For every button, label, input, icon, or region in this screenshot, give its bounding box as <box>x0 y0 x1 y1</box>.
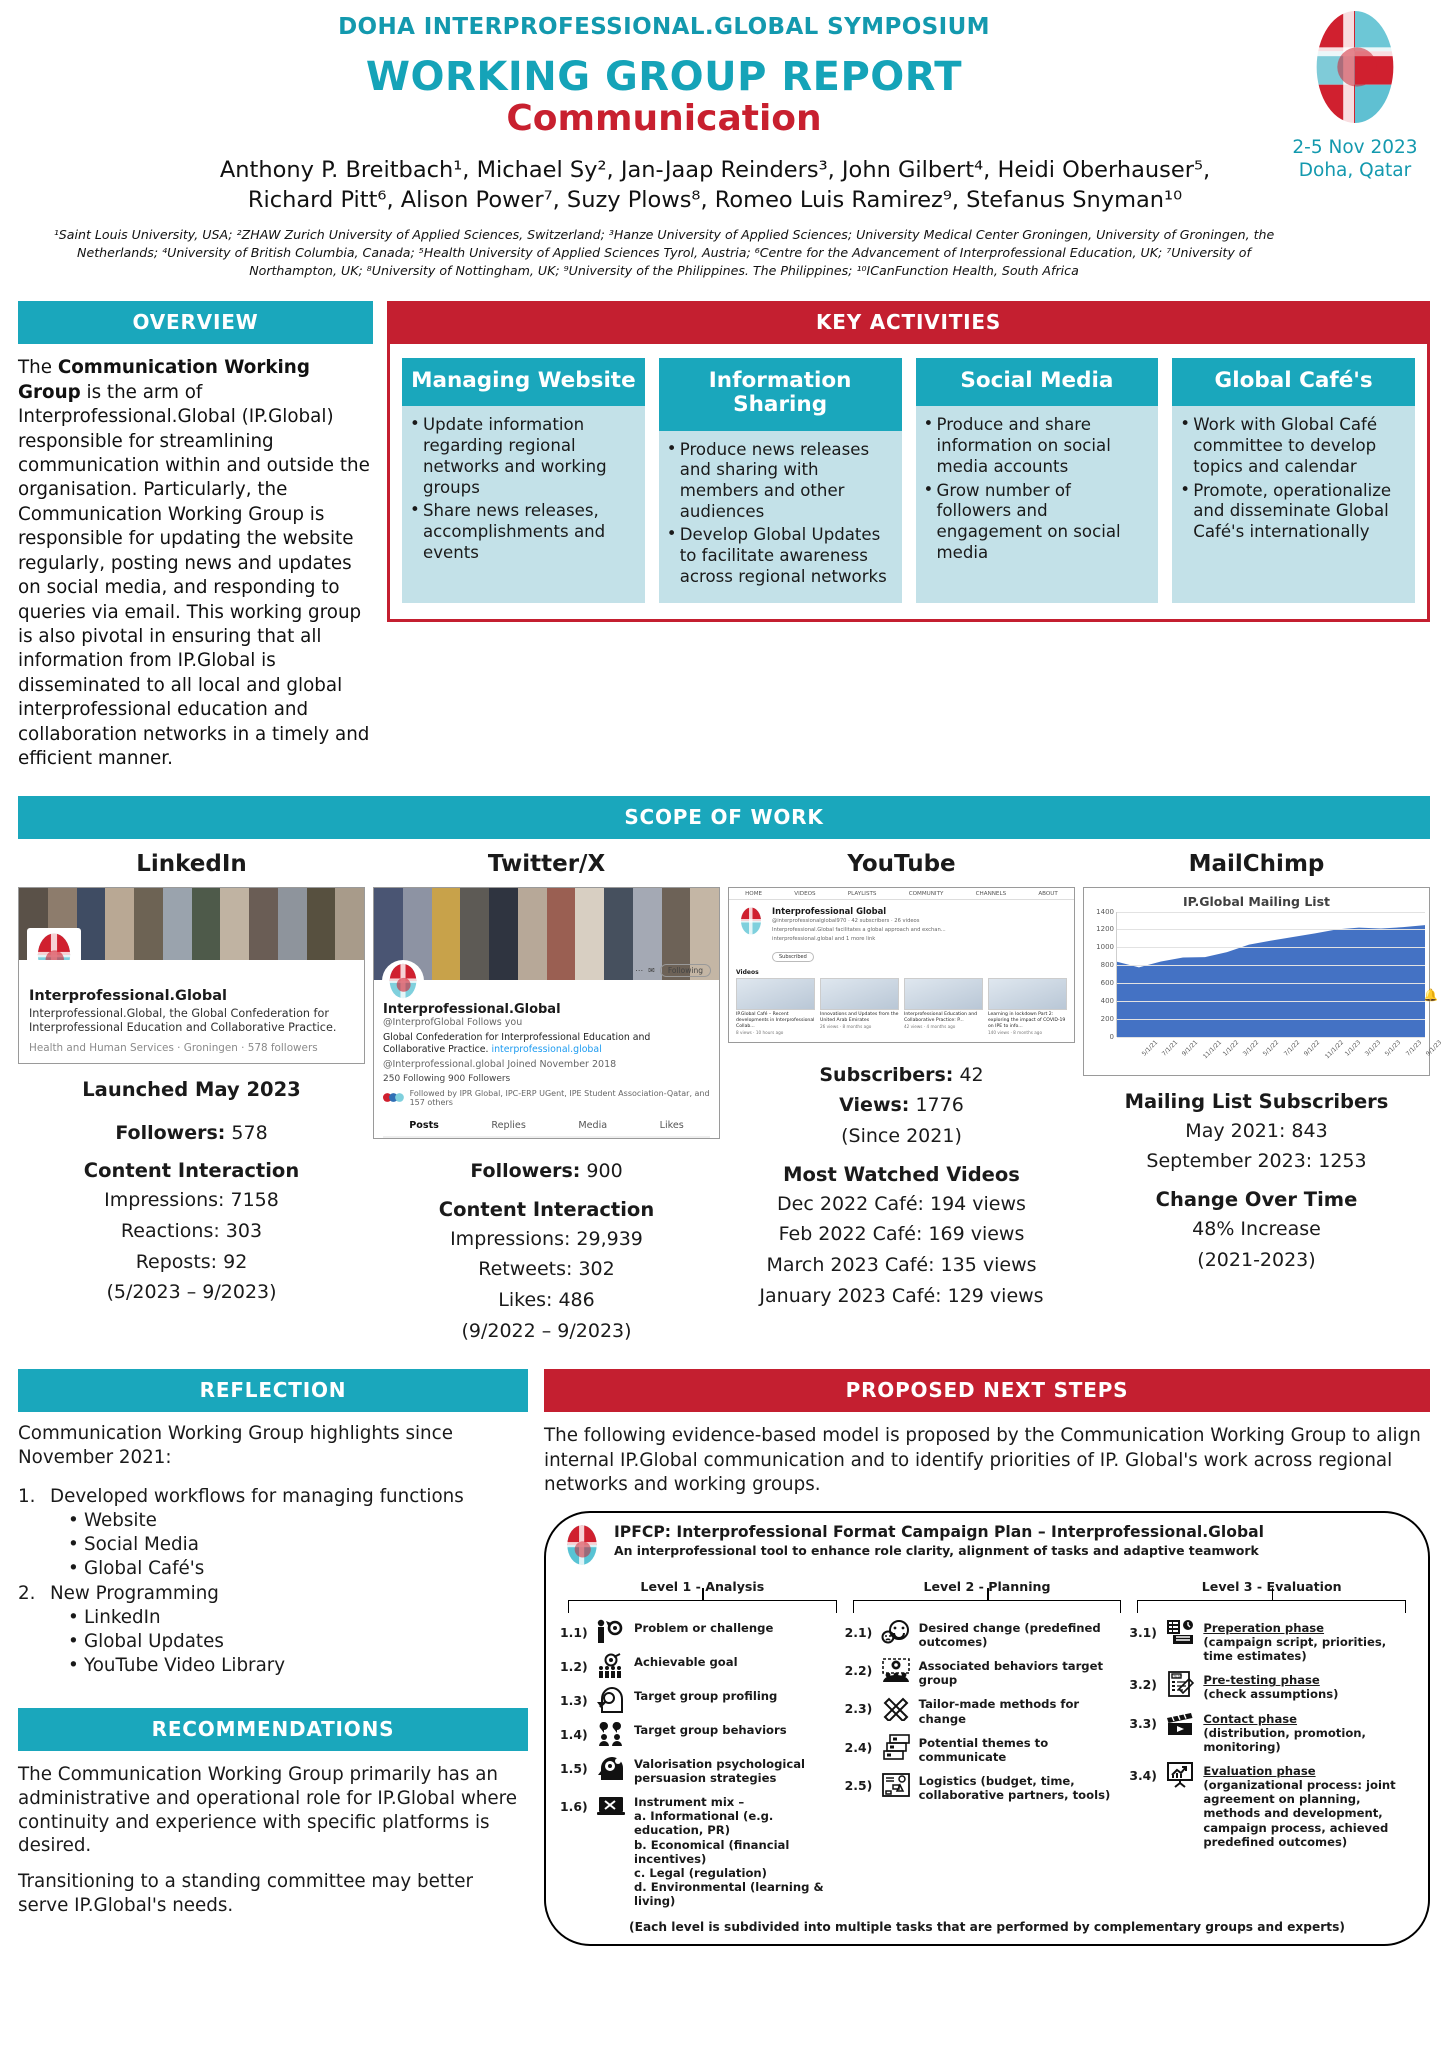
item-detail: (distribution, promotion, monitoring) <box>1203 1726 1366 1754</box>
test-sheet-icon: TEST <box>1163 1671 1197 1697</box>
reflection-list: 1. Developed workflows for managing func… <box>18 1485 528 1678</box>
ipfcp-diagram: IPFCP: Interprofessional Format Campaign… <box>544 1511 1430 1946</box>
item-heading: Preperation phase <box>1203 1621 1324 1635</box>
youtube-most-watched-item: Dec 2022 Café: 194 views <box>728 1192 1075 1217</box>
head-gears-icon <box>594 1755 628 1781</box>
chart-gridline <box>1117 1001 1425 1002</box>
linkedin-stat: Reposts: 92 <box>18 1250 365 1275</box>
ipfcp-item: 1.4) Target group behaviors <box>560 1721 845 1747</box>
chart-x-tick: 3/1/23 <box>1364 1039 1383 1058</box>
reflection-subitem: •Global Café's <box>68 1557 528 1581</box>
chart-y-tick: 200 <box>1101 1015 1114 1023</box>
reflection-subitem-text: Social Media <box>84 1533 199 1557</box>
next-steps-header: PROPOSED NEXT STEPS <box>544 1369 1430 1412</box>
poster-root: DOHA INTERPROFESSIONAL.GLOBAL SYMPOSIUM … <box>0 0 1448 2048</box>
tab-replies[interactable]: Replies <box>491 1120 525 1131</box>
activity-bullet: Grow number of followers and engagement … <box>924 481 1151 564</box>
item-number: 2.1) <box>845 1619 873 1640</box>
ipglobal-logo-icon <box>1296 8 1414 126</box>
item-number: 1.3) <box>560 1687 588 1708</box>
linkedin-profile-name: Interprofessional.Global <box>29 988 354 1004</box>
event-logo-block: 2-5 Nov 2023 Doha, Qatar <box>1290 8 1420 182</box>
item-number: 1.1) <box>560 1619 588 1640</box>
reflection-subitem: •LinkedIn <box>68 1606 528 1630</box>
chart-y-tick: 0 <box>1110 1033 1114 1041</box>
video-thumbnail[interactable] <box>736 978 815 1010</box>
item-number: 1.4) <box>560 1721 588 1742</box>
item-number: 3.1) <box>1129 1619 1157 1640</box>
group-gear-icon <box>879 1657 913 1683</box>
author-list: Anthony P. Breitbach¹, Michael Sy², Jan-… <box>18 155 1430 216</box>
level-items: 3.1) Preperation phase(campaign script, … <box>1129 1619 1414 1849</box>
reflection-item: 2. New Programming <box>18 1582 528 1606</box>
ipfcp-subtitle: An interprofessional tool to enhance rol… <box>614 1543 1264 1558</box>
chart-x-tick: 5/1/22 <box>1262 1039 1281 1058</box>
youtube-channel-header: Interprofessional Global @interprofessio… <box>729 900 1074 966</box>
item-heading: Evaluation phase <box>1203 1764 1315 1778</box>
mailchimp-change-period: (2021-2023) <box>1083 1248 1430 1273</box>
reflection-intro: Communication Working Group highlights s… <box>18 1422 528 1470</box>
activity-card: Global Café's Work with Global Café comm… <box>1172 358 1415 602</box>
activity-card-title: Information Sharing <box>659 358 902 430</box>
ipfcp-heading-row: IPFCP: Interprofessional Format Campaign… <box>560 1523 1414 1567</box>
linkedin-followers-label: Followers: <box>115 1122 225 1144</box>
twitter-action-buttons[interactable]: ⋯ ✉ Following <box>635 964 711 977</box>
mailchimp-change-title: Change Over Time <box>1083 1188 1430 1211</box>
chart-gridline <box>1117 947 1425 948</box>
level-items: 1.1) Problem or challenge 1.2) Achievabl… <box>560 1619 845 1908</box>
twitter-stat: Impressions: 29,939 <box>373 1227 720 1252</box>
youtube-videos-label: Videos <box>729 966 1074 978</box>
affiliations: ¹Saint Louis University, USA; ²ZHAW Zuri… <box>18 226 1430 280</box>
overview-header: OVERVIEW <box>18 301 373 344</box>
youtube-video-card[interactable]: IP.Global Café – Recent developments in … <box>736 978 815 1035</box>
tab-posts[interactable]: Posts <box>409 1120 439 1131</box>
level-bracket <box>1137 1600 1406 1613</box>
ipfcp-item: 3.1) Preperation phase(campaign script, … <box>1129 1619 1414 1663</box>
chart-x-tick: 11/1/21 <box>1202 1039 1223 1060</box>
reflection-item-number: 2. <box>18 1582 40 1606</box>
chart-plot-area: 0200400600800100012001400 <box>1088 912 1425 1037</box>
overview-text-pre: The <box>18 357 58 378</box>
bullet-icon: • <box>68 1533 74 1557</box>
chart-gridline <box>1117 965 1425 966</box>
clapperboard-icon <box>1163 1710 1197 1736</box>
youtube-video-card[interactable]: Interprofessional Education and Collabor… <box>904 978 983 1035</box>
youtube-most-watched-title: Most Watched Videos <box>728 1163 1075 1186</box>
chart-series-area <box>1116 912 1425 1037</box>
linkedin-profile-description: Interprofessional.Global, the Global Con… <box>29 1007 354 1035</box>
mailchimp-subscribers-2021: May 2021: 843 <box>1083 1119 1430 1144</box>
left-column: REFLECTION Communication Working Group h… <box>18 1369 528 1917</box>
activity-card-body: Update information regarding regional ne… <box>402 406 645 578</box>
overview-text-post: is the arm of Interprofessional.Global (… <box>18 382 370 769</box>
key-activities-frame: Managing Website Update information rega… <box>387 344 1430 621</box>
reflection-subitem-text: LinkedIn <box>84 1606 161 1630</box>
video-meta: 42 views · 4 months ago <box>904 1024 983 1029</box>
ipfcp-level-1: Level 1 - Analysis 1.1) Problem or chall… <box>560 1579 845 1916</box>
scope-column-twitter: Twitter/X <box>373 851 720 1344</box>
ipfcp-item: 2.5) Logistics (budget, time, collaborat… <box>845 1772 1130 1802</box>
recommendations-para-2: Transitioning to a standing committee ma… <box>18 1870 528 1918</box>
linkedin-profile-meta: 🔔 Interprofessional.Global Interprofessi… <box>19 960 364 1063</box>
level-bracket <box>853 1600 1122 1613</box>
ipfcp-item: 2.3) Tailor-made methods for change <box>845 1695 1130 1725</box>
platform-title-linkedin: LinkedIn <box>18 851 365 877</box>
twitter-profile-bio: Global Confederation for Interprofession… <box>383 1032 710 1056</box>
item-number: 2.2) <box>845 1657 873 1678</box>
chart-gridline <box>1117 912 1425 913</box>
twitter-profile-name: Interprofessional.Global <box>383 1002 710 1017</box>
platform-title-mailchimp: MailChimp <box>1083 851 1430 877</box>
ipfcp-title: IPFCP: Interprofessional Format Campaign… <box>614 1523 1264 1541</box>
ipfcp-item: 3.3) Contact phase(distribution, promoti… <box>1129 1710 1414 1754</box>
message-icon[interactable]: ✉ <box>648 966 655 975</box>
item-text: Tailor-made methods for change <box>919 1695 1130 1725</box>
twitter-followed-text: Followed by IPR Global, IPC-ERP UGent, I… <box>410 1089 710 1107</box>
youtube-channel-name: Interprofessional Global <box>772 906 946 916</box>
item-number: 2.3) <box>845 1695 873 1716</box>
ipfcp-footnote: (Each level is subdivided into multiple … <box>560 1920 1414 1934</box>
item-number: 2.5) <box>845 1772 873 1793</box>
ipfcp-item: 2.4) Potential themes to communicate <box>845 1734 1130 1764</box>
chart-x-tick: 5/1/23 <box>1384 1039 1403 1058</box>
activity-card-body: Work with Global Café committee to devel… <box>1172 406 1415 557</box>
activity-card: Information Sharing Produce news release… <box>659 358 902 602</box>
linkedin-profile-stats: Health and Human Services · Groningen · … <box>29 1042 354 1054</box>
youtube-nav-channels[interactable]: CHANNELS <box>976 891 1007 897</box>
svg-text:TEST: TEST <box>1173 1675 1183 1679</box>
youtube-subscribe-button[interactable]: Subscribed <box>772 952 814 962</box>
chart-x-tick: 1/1/22 <box>1221 1039 1240 1058</box>
chart-x-tick: 7/1/22 <box>1282 1039 1301 1058</box>
activity-card-body: Produce news releases and sharing with m… <box>659 431 902 603</box>
chart-x-tick: 9/1/21 <box>1181 1039 1200 1058</box>
video-title: Learning in lockdown Part 2: exploring t… <box>988 1012 1067 1030</box>
youtube-nav-playlists[interactable]: PLAYLISTS <box>848 891 877 897</box>
chart-y-axis: 0200400600800100012001400 <box>1088 912 1116 1037</box>
youtube-views-value: 1776 <box>915 1094 963 1116</box>
item-text: Pre-testing phase(check assumptions) <box>1203 1671 1338 1701</box>
activity-bullet: Develop Global Updates to facilitate awa… <box>667 525 894 587</box>
next-steps-section: PROPOSED NEXT STEPS The following eviden… <box>544 1369 1430 1946</box>
item-text: Valorisation psychological persuasion st… <box>634 1755 845 1785</box>
key-activities-header: KEY ACTIVITIES <box>387 301 1430 344</box>
chart-y-tick: 400 <box>1101 997 1114 1005</box>
problem-icon <box>594 1619 628 1645</box>
bullet-icon: • <box>68 1606 74 1630</box>
youtube-screenshot: HOME VIDEOS PLAYLISTS COMMUNITY CHANNELS… <box>728 887 1075 1043</box>
reflection-item-number: 1. <box>18 1485 40 1509</box>
tab-media[interactable]: Media <box>578 1120 607 1131</box>
mailchimp-subscribers-title: Mailing List Subscribers <box>1083 1090 1430 1113</box>
chart-title: IP.Global Mailing List <box>1088 894 1425 909</box>
item-number: 3.3) <box>1129 1710 1157 1731</box>
youtube-nav-videos[interactable]: VIDEOS <box>794 891 815 897</box>
head-magnifier-icon <box>594 1687 628 1713</box>
reflection-header: REFLECTION <box>18 1369 528 1412</box>
more-icon[interactable]: ⋯ <box>635 966 643 975</box>
reflection-item-text: New Programming <box>50 1582 219 1606</box>
video-meta: 140 views · 8 months ago <box>988 1030 1067 1035</box>
ipfcp-item: 1.6) Instrument mix – a. Informational (… <box>560 1793 845 1908</box>
target-goal-icon <box>594 1653 628 1679</box>
twitter-tabs[interactable]: Posts Replies Media Likes <box>383 1113 710 1138</box>
youtube-nav-home[interactable]: HOME <box>745 891 762 897</box>
twitter-joined: @Interprofessional.global Joined Novembe… <box>383 1059 710 1070</box>
scope-header: SCOPE OF WORK <box>18 796 1430 839</box>
youtube-nav-about[interactable]: ABOUT <box>1038 891 1057 897</box>
row-overview-activities: OVERVIEW The Communication Working Group… <box>18 301 1430 771</box>
chart-gridline <box>1117 983 1425 984</box>
chart-x-tick: 9/1/22 <box>1303 1039 1322 1058</box>
ipfcp-item: 2.2) Associated behaviors target group <box>845 1657 1130 1687</box>
linkedin-stat: Reactions: 303 <box>18 1219 365 1244</box>
tab-likes[interactable]: Likes <box>660 1120 684 1131</box>
youtube-most-watched-item: March 2023 Café: 135 views <box>728 1253 1075 1278</box>
key-activities-cards: Managing Website Update information rega… <box>402 358 1415 602</box>
scope-columns: LinkedIn <box>18 851 1430 1344</box>
linkedin-cover-photo <box>19 888 364 960</box>
youtube-nav-community[interactable]: COMMUNITY <box>909 891 944 897</box>
twitter-followers-value: 900 <box>586 1160 622 1182</box>
twitter-profile-handle: @InterprofGlobal Follows you <box>383 1017 710 1028</box>
people-pins-icon <box>594 1721 628 1747</box>
reflection-item: 1. Developed workflows for managing func… <box>18 1485 528 1509</box>
ipfcp-item: 3.2) TEST Pre-testing phase(check assump… <box>1129 1671 1414 1701</box>
presentation-chart-icon <box>1163 1762 1197 1788</box>
linkedin-followers-value: 578 <box>231 1122 267 1144</box>
chart-gridline <box>1117 929 1425 930</box>
ipfcp-item: 2.1) Desired change (predefined outcomes… <box>845 1619 1130 1649</box>
twitter-bio-link[interactable]: interprofessional.global <box>492 1044 602 1055</box>
chart-x-tick: 7/1/21 <box>1161 1039 1180 1058</box>
video-title: IP.Global Café – Recent developments in … <box>736 1012 815 1030</box>
activity-bullet: Produce news releases and sharing with m… <box>667 440 894 523</box>
key-activities-section: KEY ACTIVITIES Managing Website Update i… <box>387 301 1430 621</box>
youtube-channel-meta: @interprofessionalglobal970 · 42 subscri… <box>772 918 946 925</box>
scope-column-linkedin: LinkedIn <box>18 851 365 1344</box>
ipglobal-logo-icon <box>560 1523 604 1567</box>
video-title: Interprofessional Education and Collabor… <box>904 1012 983 1024</box>
ipfcp-levels: Level 1 - Analysis 1.1) Problem or chall… <box>560 1579 1414 1916</box>
ipfcp-item: 1.2) Achievable goal <box>560 1653 845 1679</box>
twitter-stat: Retweets: 302 <box>373 1257 720 1282</box>
youtube-video-grid: IP.Global Café – Recent developments in … <box>729 978 1074 1042</box>
item-text: Instrument mix – a. Informational (e.g. … <box>634 1793 845 1908</box>
symposium-title: DOHA INTERPROFESSIONAL.GLOBAL SYMPOSIUM <box>18 14 1430 40</box>
activity-card-title: Global Café's <box>1172 358 1415 406</box>
item-text: Evaluation phase(organizational process:… <box>1203 1762 1414 1849</box>
linkedin-launched: Launched May 2023 <box>18 1078 365 1101</box>
overview-section: OVERVIEW The Communication Working Group… <box>18 301 373 771</box>
youtube-since: (Since 2021) <box>728 1124 1075 1149</box>
item-text: Potential themes to communicate <box>919 1734 1130 1764</box>
bullet-icon: • <box>68 1654 74 1678</box>
activity-card-title: Social Media <box>916 358 1159 406</box>
activity-card: Social Media Produce and share informati… <box>916 358 1159 602</box>
item-text: Achievable goal <box>634 1653 738 1669</box>
twitter-interaction-title: Content Interaction <box>373 1198 720 1221</box>
activity-card-body: Produce and share information on social … <box>916 406 1159 578</box>
reflection-subitem: •Website <box>68 1509 528 1533</box>
toolbox-laptop-icon <box>594 1793 628 1819</box>
mailchimp-change-value: 48% Increase <box>1083 1217 1430 1242</box>
logistics-board-icon <box>879 1772 913 1798</box>
row-reflection-nextsteps: REFLECTION Communication Working Group h… <box>18 1369 1430 1946</box>
chart-x-tick: 1/1/23 <box>1343 1039 1362 1058</box>
ipfcp-level-2: Level 2 - Planning 2.1) Desired change (… <box>845 1579 1130 1916</box>
ipfcp-level-3: Level 3 - Evaluation 3.1) Preperation ph… <box>1129 1579 1414 1916</box>
bullet-icon: • <box>68 1630 74 1654</box>
event-location: Doha, Qatar <box>1290 159 1420 182</box>
youtube-channel-description: Interprofessional.Global facilitates a g… <box>772 927 946 934</box>
following-button[interactable]: Following <box>660 964 711 977</box>
event-dates: 2-5 Nov 2023 <box>1290 136 1420 159</box>
activity-card-title: Managing Website <box>402 358 645 406</box>
chart-x-tick: 5/1/21 <box>1140 1039 1159 1058</box>
linkedin-stat: (5/2023 – 9/2023) <box>18 1280 365 1305</box>
faces-change-icon <box>879 1619 913 1645</box>
item-detail: (organizational process: joint agreement… <box>1203 1778 1395 1849</box>
item-text: Problem or challenge <box>634 1619 773 1635</box>
activity-bullet: Produce and share information on social … <box>924 415 1151 477</box>
twitter-followed-by: Followed by IPR Global, IPC-ERP UGent, I… <box>383 1089 710 1107</box>
twitter-screenshot: ⋯ ✉ Following Interprofessional.Global @… <box>373 887 720 1139</box>
item-text: Target group profiling <box>634 1687 777 1703</box>
item-detail: (campaign script, priorities, time estim… <box>1203 1635 1386 1663</box>
chart-x-axis: 5/1/217/1/219/1/2111/1/211/1/223/1/225/1… <box>1116 1037 1425 1071</box>
twitter-followers-label: Followers: <box>470 1160 580 1182</box>
reflection-subitem-text: Global Updates <box>84 1630 224 1654</box>
ipglobal-logo-icon <box>736 906 766 936</box>
clipboard-clock-icon <box>1163 1619 1197 1645</box>
chart-gridline <box>1117 1019 1425 1020</box>
video-meta: 8 views · 10 hours ago <box>736 1030 815 1035</box>
bullet-icon: • <box>68 1509 74 1533</box>
reflection-subitem: •Social Media <box>68 1533 528 1557</box>
poster-header: DOHA INTERPROFESSIONAL.GLOBAL SYMPOSIUM … <box>18 0 1430 283</box>
youtube-nav[interactable]: HOME VIDEOS PLAYLISTS COMMUNITY CHANNELS… <box>729 888 1074 900</box>
youtube-video-card[interactable]: Innovations and Updates from the United … <box>820 978 899 1035</box>
reflection-subitem: •YouTube Video Library <box>68 1654 528 1678</box>
chart-y-tick: 600 <box>1101 979 1114 987</box>
list-cards-icon <box>879 1734 913 1760</box>
linkedin-screenshot: 🔔 Interprofessional.Global Interprofessi… <box>18 887 365 1064</box>
youtube-most-watched-item: January 2023 Café: 129 views <box>728 1284 1075 1309</box>
linkedin-followers: Followers: 578 <box>18 1121 365 1146</box>
item-number: 3.2) <box>1129 1671 1157 1692</box>
pencil-ruler-icon <box>879 1695 913 1721</box>
scope-of-work-section: SCOPE OF WORK LinkedIn <box>18 796 1430 1344</box>
reflection-subitem-text: Global Café's <box>84 1557 204 1581</box>
item-text: Associated behaviors target group <box>919 1657 1130 1687</box>
ipglobal-logo-icon <box>31 932 77 960</box>
item-number: 2.4) <box>845 1734 873 1755</box>
youtube-views-label: Views: <box>839 1094 909 1116</box>
linkedin-interaction-title: Content Interaction <box>18 1159 365 1182</box>
youtube-views: Views: 1776 <box>728 1093 1075 1118</box>
item-text: Target group behaviors <box>634 1721 787 1737</box>
item-heading: Pre-testing phase <box>1203 1673 1319 1687</box>
linkedin-avatar <box>27 928 81 960</box>
video-thumbnail[interactable] <box>820 978 899 1010</box>
followers-avatars-icon <box>383 1092 406 1103</box>
item-detail: (check assumptions) <box>1203 1687 1338 1701</box>
activity-bullet: Promote, operationalize and disseminate … <box>1180 481 1407 543</box>
activity-bullet: Update information regarding regional ne… <box>410 415 637 498</box>
activity-bullet: Share news releases, accomplishments and… <box>410 501 637 563</box>
item-text: Logistics (budget, time, collaborative p… <box>919 1772 1130 1802</box>
bullet-icon: • <box>68 1557 74 1581</box>
item-number: 1.6) <box>560 1793 588 1814</box>
item-text: Desired change (predefined outcomes) <box>919 1619 1130 1649</box>
scope-column-youtube: YouTube HOME VIDEOS PLAYLISTS COMMUNITY … <box>728 851 1075 1344</box>
item-number: 3.4) <box>1129 1762 1157 1783</box>
youtube-channel-link[interactable]: interprofessional.global and 1 more link <box>772 936 946 943</box>
chart-y-tick: 1000 <box>1096 943 1114 951</box>
youtube-subscribers-value: 42 <box>959 1064 983 1086</box>
reflection-item-text: Developed workflows for managing functio… <box>50 1485 464 1509</box>
page-title: WORKING GROUP REPORT <box>18 54 1430 100</box>
page-subtitle: Communication <box>18 98 1430 139</box>
chart-y-tick: 1200 <box>1096 925 1114 933</box>
level-items: 2.1) Desired change (predefined outcomes… <box>845 1619 1130 1802</box>
chart-y-tick: 1400 <box>1096 908 1114 916</box>
reflection-subitem-text: YouTube Video Library <box>84 1654 285 1678</box>
youtube-video-card[interactable]: Learning in lockdown Part 2: exploring t… <box>988 978 1067 1035</box>
platform-title-youtube: YouTube <box>728 851 1075 877</box>
video-meta: 26 views · 8 months ago <box>820 1024 899 1029</box>
next-steps-intro: The following evidence-based model is pr… <box>544 1424 1430 1496</box>
author-line-2: Richard Pitt⁶, Alison Power⁷, Suzy Plows… <box>58 185 1372 215</box>
video-thumbnail[interactable] <box>988 978 1067 1010</box>
author-line-1: Anthony P. Breitbach¹, Michael Sy², Jan-… <box>58 155 1372 185</box>
twitter-follow-counts: 250 Following 900 Followers <box>383 1074 710 1084</box>
activity-bullet: Work with Global Café committee to devel… <box>1180 415 1407 477</box>
twitter-avatar <box>382 960 424 1002</box>
platform-title-twitter: Twitter/X <box>373 851 720 877</box>
twitter-followers: Followers: 900 <box>373 1159 720 1184</box>
chart-y-tick: 800 <box>1101 961 1114 969</box>
twitter-stat: Likes: 486 <box>373 1288 720 1313</box>
youtube-subscribers-label: Subscribers: <box>819 1064 953 1086</box>
ipglobal-logo-icon <box>384 962 422 1000</box>
scope-column-mailchimp: MailChimp IP.Global Mailing List 0200400… <box>1083 851 1430 1344</box>
reflection-subitem-text: Website <box>84 1509 157 1533</box>
chart-x-tick: 9/1/23 <box>1424 1039 1443 1058</box>
youtube-most-watched-item: Feb 2022 Café: 169 views <box>728 1222 1075 1247</box>
item-heading: Contact phase <box>1203 1712 1297 1726</box>
ipfcp-item: 1.3) Target group profiling <box>560 1687 845 1713</box>
ipfcp-item: 1.1) Problem or challenge <box>560 1619 845 1645</box>
chart-x-tick: 3/1/22 <box>1242 1039 1261 1058</box>
item-number: 1.5) <box>560 1755 588 1776</box>
youtube-subscribers: Subscribers: 42 <box>728 1063 1075 1088</box>
activity-card: Managing Website Update information rega… <box>402 358 645 602</box>
mailchimp-subscribers-2023: September 2023: 1253 <box>1083 1149 1430 1174</box>
ipfcp-item: 3.4) Evaluation phase(organizational pro… <box>1129 1762 1414 1849</box>
video-thumbnail[interactable] <box>904 978 983 1010</box>
ipfcp-item: 1.5) Valorisation psychological persuasi… <box>560 1755 845 1785</box>
mailing-list-chart: IP.Global Mailing List 02004006008001000… <box>1083 887 1430 1076</box>
item-text: Preperation phase(campaign script, prior… <box>1203 1619 1414 1663</box>
item-text: Contact phase(distribution, promotion, m… <box>1203 1710 1414 1754</box>
item-number: 1.2) <box>560 1653 588 1674</box>
recommendations-para-1: The Communication Working Group primaril… <box>18 1763 528 1858</box>
video-title: Innovations and Updates from the United … <box>820 1012 899 1024</box>
level-bracket <box>568 1600 837 1613</box>
